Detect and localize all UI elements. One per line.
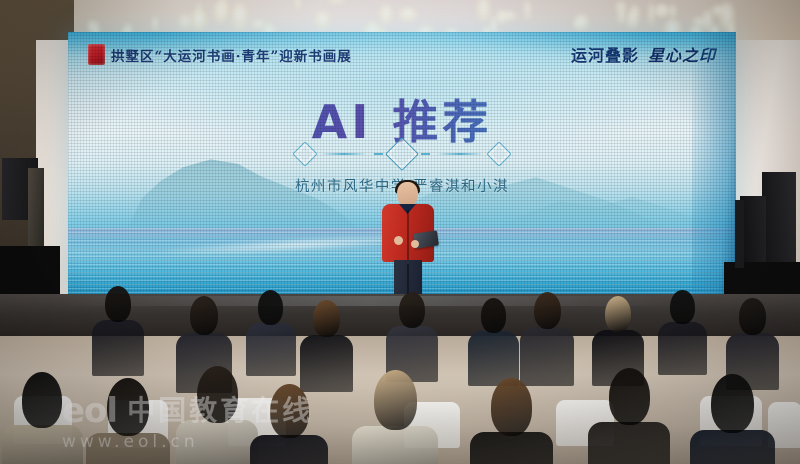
audience-member	[176, 366, 258, 464]
ceiling-light	[617, 6, 626, 25]
ceiling-light	[496, 10, 507, 25]
audience-head	[739, 298, 766, 335]
audience-shoulders	[470, 432, 553, 464]
audience-shoulders	[352, 426, 438, 464]
audience-head	[258, 290, 283, 325]
audience-head	[481, 298, 506, 333]
audience-member	[468, 298, 519, 386]
audience-member	[520, 292, 574, 386]
audience-member	[250, 384, 328, 464]
presenter-hand-left	[394, 236, 403, 245]
audience-member	[352, 370, 438, 464]
audience-head	[190, 296, 218, 335]
audience-head	[313, 300, 340, 337]
ceiling-light	[152, 16, 158, 32]
ornament-line	[437, 153, 483, 154]
ceiling-light	[294, 0, 302, 10]
diamond-ornament-center-icon	[385, 137, 419, 171]
audience-head	[374, 370, 417, 430]
audience-head	[609, 368, 650, 425]
presenter-hand-right	[411, 240, 419, 248]
exhibition-title: 拱墅区“大运河书画·青年”迎新书画展	[111, 45, 352, 65]
audience-member	[588, 368, 670, 464]
photo-canvas: 拱墅区“大运河书画·青年”迎新书画展 运河叠影 星心之印 AI 推荐 杭州市风华…	[0, 0, 800, 464]
stage-edge-highlight	[60, 296, 680, 306]
diamond-ornament-icon	[292, 141, 317, 166]
ceiling-light	[314, 11, 331, 30]
audience-member	[300, 300, 353, 392]
audience-shoulders	[658, 322, 707, 375]
ceiling-light	[178, 14, 192, 29]
ceiling-light	[476, 0, 491, 22]
exhibition-header-left: 拱墅区“大运河书画·青年”迎新书画展	[88, 44, 352, 65]
audience-member	[386, 292, 438, 382]
ceiling-light	[626, 11, 639, 29]
ornament-dash	[374, 153, 383, 155]
audience-shoulders	[176, 420, 258, 464]
audience-head	[270, 384, 309, 438]
audience-head	[534, 292, 561, 329]
led-screen-curved-edge	[692, 32, 736, 294]
speaker-stand	[735, 200, 744, 268]
pa-speaker-right-top	[762, 172, 796, 268]
audience-head	[105, 286, 131, 322]
ornament-line	[321, 153, 367, 154]
audience-member	[86, 378, 170, 464]
red-seal-icon	[88, 44, 105, 65]
ceiling-light	[231, 2, 248, 32]
audience-member	[246, 290, 296, 376]
presenter-jacket-zip	[407, 210, 409, 260]
pa-speaker-left-column	[28, 168, 44, 256]
presenter	[378, 182, 438, 298]
audience-member	[658, 290, 707, 375]
audience-head	[197, 366, 238, 423]
audience-shoulders	[690, 430, 775, 464]
audience-head	[107, 378, 149, 436]
audience-member	[92, 286, 144, 376]
ceiling-light	[668, 4, 677, 19]
audience-member	[470, 378, 553, 464]
audience-shoulders	[250, 435, 328, 464]
ceiling-light	[574, 14, 589, 31]
audience-member	[690, 374, 775, 464]
diamond-ornament-icon	[486, 141, 511, 166]
audience-head	[22, 372, 62, 428]
ceiling-light	[213, 1, 228, 25]
audience-shoulders	[86, 433, 170, 464]
ceiling-light	[379, 4, 393, 25]
audience-member	[2, 372, 83, 464]
audience-shoulders	[520, 327, 574, 385]
brand-line-a: 运河叠影	[571, 42, 639, 66]
ornament-divider	[68, 142, 736, 166]
audience-head	[399, 292, 425, 328]
ceiling-light	[398, 7, 418, 21]
audience-shoulders	[92, 320, 144, 376]
ceiling-light	[326, 0, 347, 5]
audience-head	[491, 378, 533, 436]
audience-head	[670, 290, 694, 324]
audience-shoulders	[2, 425, 83, 464]
audience-head	[605, 296, 631, 332]
ornament-dash	[421, 153, 430, 155]
ceiling-light	[524, 0, 530, 21]
audience-head	[711, 374, 754, 433]
audience-shoulders	[588, 422, 670, 464]
ceiling-light	[189, 10, 208, 31]
